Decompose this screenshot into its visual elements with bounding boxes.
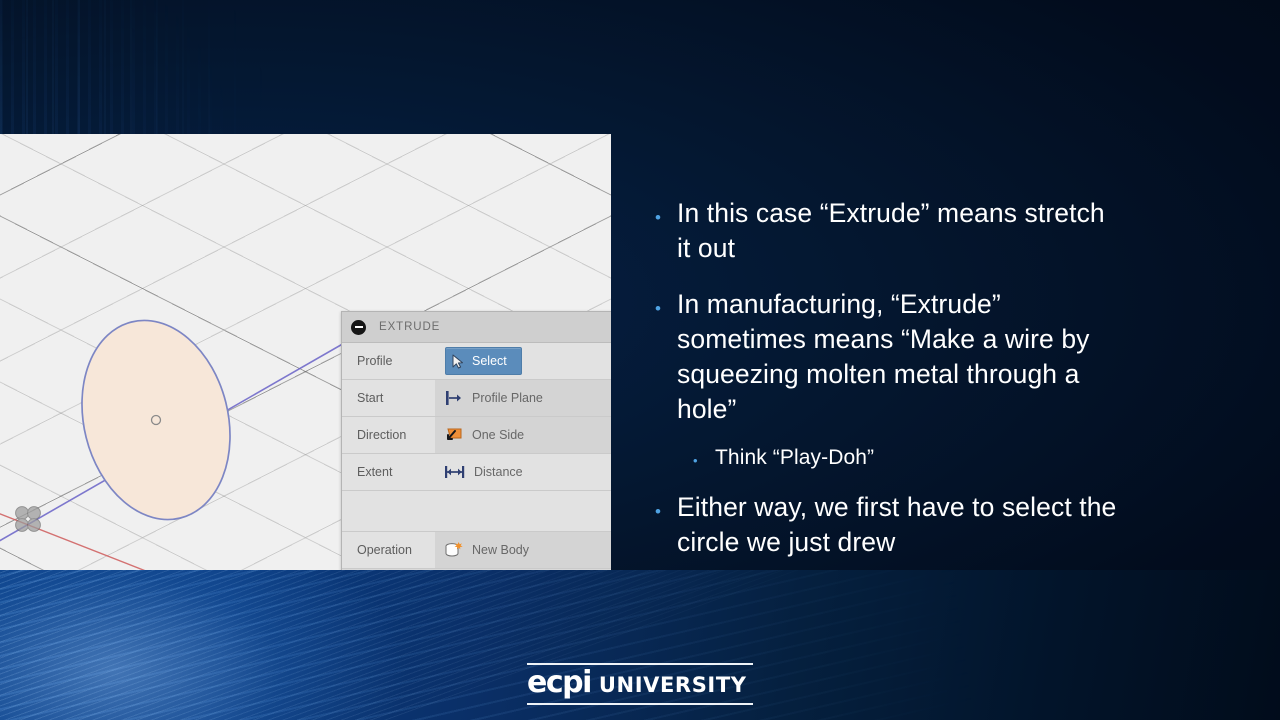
- bullet-item: • In this case “Extrude” means stretch i…: [655, 196, 1125, 266]
- extrude-row-extent[interactable]: Extent Distance: [342, 454, 611, 491]
- bullet-item: • In manufacturing, “Extrude” sometimes …: [655, 287, 1125, 427]
- bullet-dot-icon: •: [655, 196, 677, 266]
- logo-rule-bottom: [527, 703, 753, 705]
- minus-circle-icon[interactable]: [351, 320, 366, 335]
- profile-plane-icon: [444, 390, 464, 406]
- bullet-text: Either way, we first have to select the …: [677, 490, 1125, 560]
- extrude-row-value: New Body: [472, 543, 529, 557]
- extrude-row-start[interactable]: Start Profile Plane: [342, 380, 611, 417]
- extrude-row-label: Direction: [342, 417, 435, 453]
- sketch-circle: [62, 305, 251, 536]
- extrude-row-label: Extent: [342, 454, 435, 490]
- extrude-row-value: Profile Plane: [472, 391, 543, 405]
- extrude-dialog[interactable]: EXTRUDE Profile Select Start: [341, 311, 611, 579]
- bullet-item: • Either way, we first have to select th…: [655, 490, 1125, 560]
- bullet-text: In this case “Extrude” means stretch it …: [677, 196, 1125, 266]
- extrude-row-direction[interactable]: Direction One Side: [342, 417, 611, 454]
- sub-bullet-item: • Think “Play-Doh”: [693, 444, 1125, 472]
- new-body-icon: [444, 541, 464, 559]
- profile-select-label: Select: [472, 354, 507, 368]
- bullet-dot-icon: •: [655, 287, 677, 427]
- extrude-dialog-header[interactable]: EXTRUDE: [342, 312, 611, 343]
- extrude-dialog-spacer: [342, 491, 611, 532]
- cad-screenshot: EXTRUDE Profile Select Start: [0, 134, 611, 579]
- bullet-text: In manufacturing, “Extrude” sometimes me…: [677, 287, 1125, 427]
- bullet-dot-icon: •: [655, 490, 677, 560]
- extrude-row-value: Distance: [474, 465, 523, 479]
- extrude-row-profile[interactable]: Profile Select: [342, 343, 611, 380]
- bullet-dot-icon: •: [693, 444, 715, 472]
- slide-canvas: EXTRUDE Profile Select Start: [0, 0, 1280, 720]
- extrude-row-label: Start: [342, 380, 435, 416]
- extrude-row-value: One Side: [472, 428, 524, 442]
- one-side-arrow-icon: [444, 427, 464, 444]
- cursor-arrow-icon: [452, 354, 465, 369]
- distance-arrow-icon: [444, 464, 466, 480]
- origin-marker: [16, 507, 41, 532]
- ray-glow: [0, 570, 560, 720]
- logo-wordmark: ecpi: [527, 668, 591, 698]
- profile-select-button[interactable]: Select: [445, 347, 522, 375]
- ecpi-university-logo: ecpi UNIVERSITY: [527, 663, 753, 705]
- bullet-text: Think “Play-Doh”: [715, 444, 874, 472]
- extrude-row-label: Profile: [342, 343, 435, 379]
- bullet-list: • In this case “Extrude” means stretch i…: [655, 196, 1125, 580]
- extrude-row-label: Operation: [342, 532, 435, 568]
- extrude-dialog-title: EXTRUDE: [379, 321, 440, 333]
- extrude-row-operation[interactable]: Operation New Body: [342, 532, 611, 569]
- logo-university-text: UNIVERSITY: [599, 675, 747, 696]
